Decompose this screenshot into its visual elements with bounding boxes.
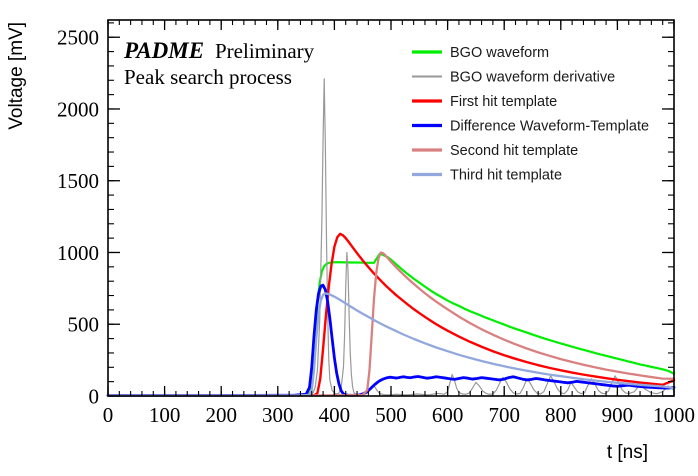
x-tick-label: 100 (149, 403, 181, 427)
x-tick-label: 800 (545, 403, 577, 427)
x-tick-label: 1000 (653, 403, 695, 427)
x-tick-label: 900 (602, 403, 634, 427)
legend-label-5: Third hit template (450, 168, 562, 184)
x-tick-label: 400 (319, 403, 351, 427)
title-preliminary: Preliminary (215, 39, 315, 63)
y-tick-label: 500 (68, 313, 100, 337)
chart-root: 0100200300400500600700800900100005001000… (0, 0, 698, 476)
legend-label-3: Difference Waveform-Template (450, 119, 649, 135)
series-curve-second-hit-template (108, 252, 674, 395)
legend-layer: BGO waveformBGO waveform derivativeFirst… (412, 45, 649, 184)
series-curve-bgo-waveform (108, 254, 674, 396)
x-tick-label: 300 (262, 403, 294, 427)
x-tick-label: 200 (205, 403, 237, 427)
x-axis-title: t [ns] (607, 442, 648, 463)
x-tick-label: 0 (103, 403, 114, 427)
y-tick-label: 2000 (57, 97, 99, 121)
legend-label-2: First hit template (450, 94, 557, 110)
x-tick-label: 500 (375, 403, 407, 427)
x-tick-label: 700 (488, 403, 520, 427)
x-tick-label: 600 (432, 403, 464, 427)
y-tick-label: 0 (89, 385, 100, 409)
y-tick-label: 1500 (57, 169, 99, 193)
title-padme: PADME (123, 38, 204, 63)
plot-svg: 0100200300400500600700800900100005001000… (0, 0, 698, 476)
series-curve-third-hit-template (108, 293, 674, 395)
y-tick-label: 1000 (57, 241, 99, 265)
legend-label-1: BGO waveform derivative (450, 70, 615, 86)
y-axis-title: Voltage [mV] (6, 22, 27, 130)
legend-label-4: Second hit template (450, 143, 578, 159)
y-tick-label: 2500 (57, 26, 99, 50)
chart-subtitle: Peak search process (124, 65, 292, 89)
series-curve-first-hit-template (108, 234, 674, 396)
legend-label-0: BGO waveform (450, 45, 549, 61)
